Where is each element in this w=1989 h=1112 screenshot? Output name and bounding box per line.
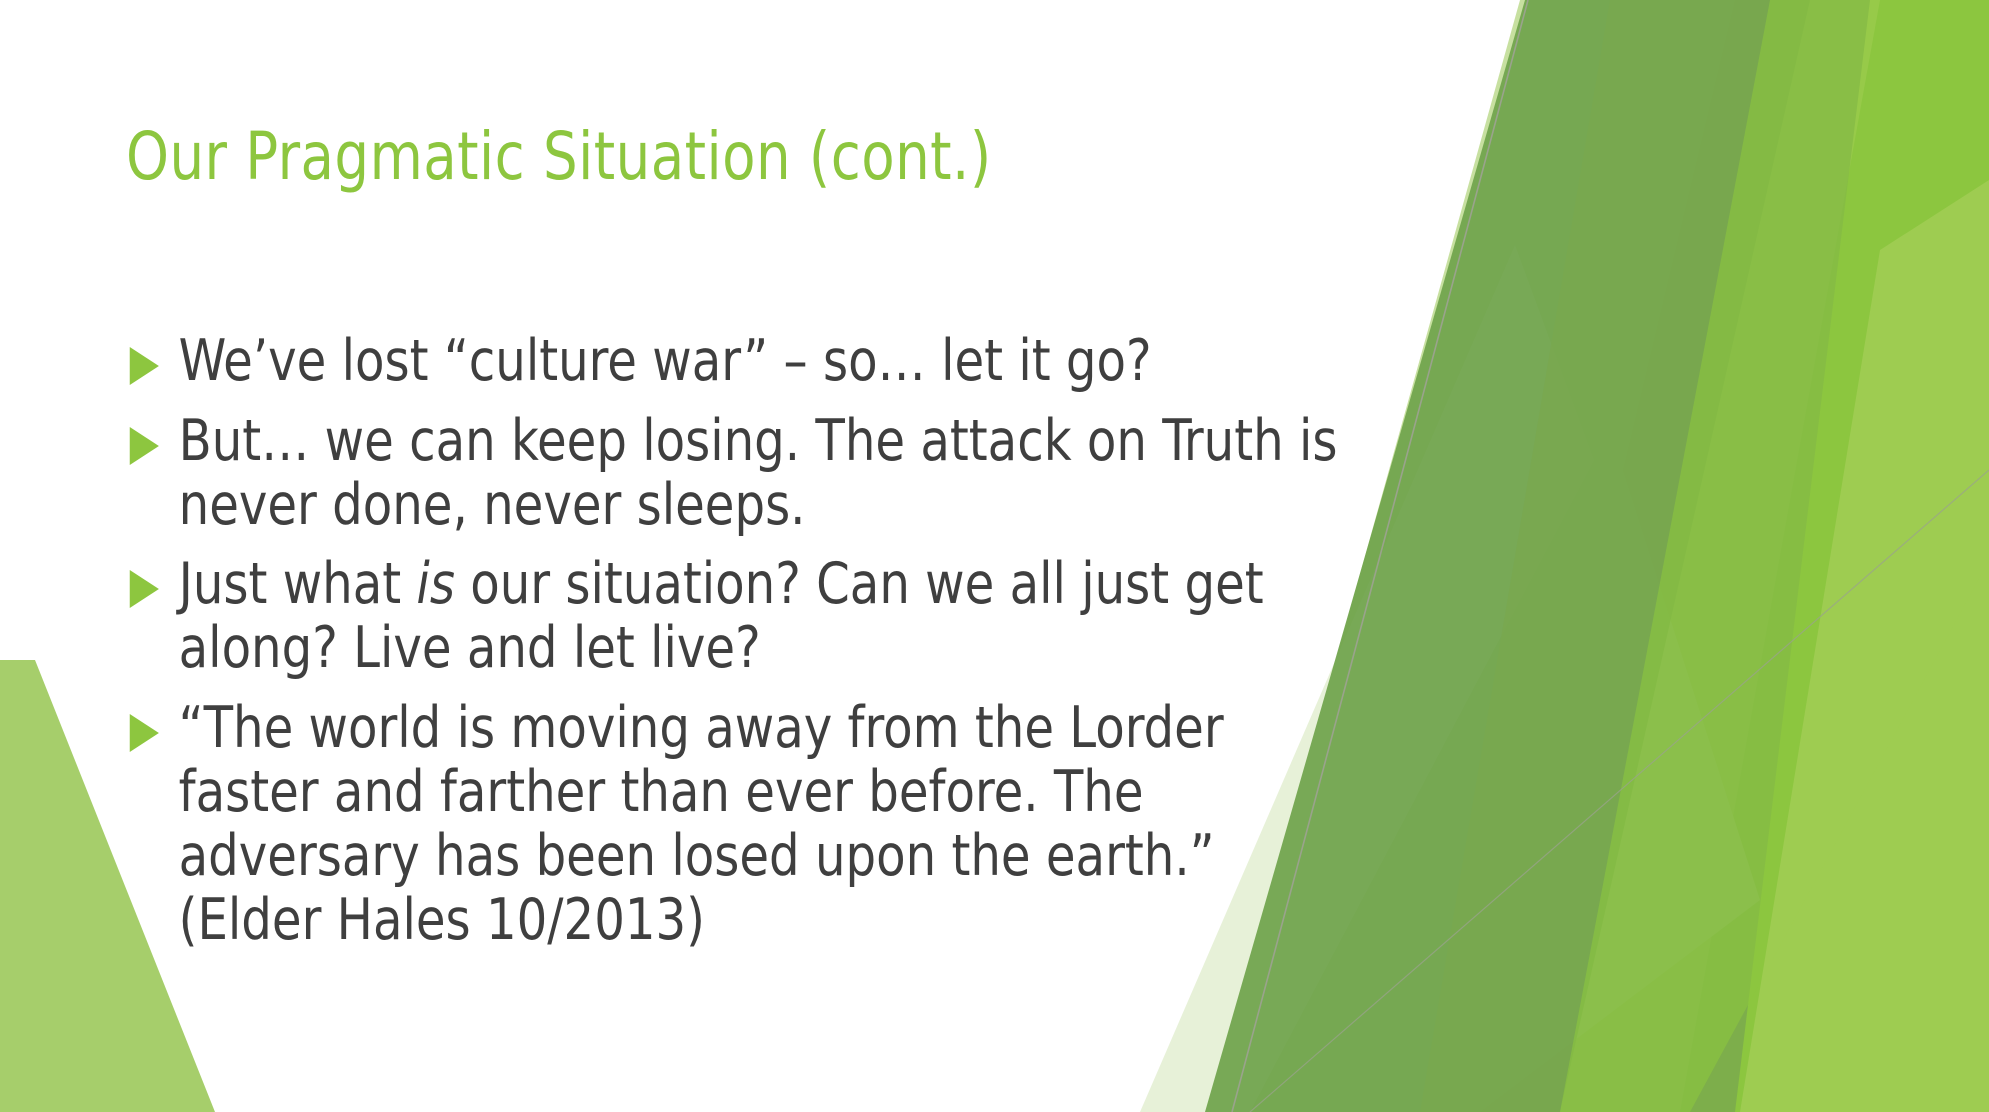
list-item-2: But… we can keep losing. The attack on T… xyxy=(126,410,1367,538)
list-item-4: “The world is moving away from the Lorde… xyxy=(126,697,1367,952)
list-item-3: Just what is our situation? Can we all j… xyxy=(126,553,1367,681)
list-item-3-emphasis: is xyxy=(416,551,455,617)
list-item-1-text: We’ve lost “culture war” – so… let it go… xyxy=(179,330,1367,394)
triangle-right-icon xyxy=(130,570,159,608)
page-title: Our Pragmatic Situation (cont.) xyxy=(126,122,1276,191)
bullet-list: We’ve lost “culture war” – so… let it go… xyxy=(126,330,1446,968)
triangle-right-icon xyxy=(130,427,159,465)
list-item-2-text: But… we can keep losing. The attack on T… xyxy=(179,410,1367,538)
deco-right-vivid-band xyxy=(1680,0,1989,1112)
triangle-right-icon xyxy=(130,714,159,752)
list-item-3-text-before-italic: Just what xyxy=(179,551,417,617)
list-item-1: We’ve lost “culture war” – so… let it go… xyxy=(126,330,1367,394)
triangle-right-icon xyxy=(130,347,159,385)
list-item-3-text: Just what is our situation? Can we all j… xyxy=(179,553,1367,681)
deco-light-overlay xyxy=(1740,180,1989,1112)
slide: Our Pragmatic Situation (cont.) We’ve lo… xyxy=(0,0,1989,1112)
deco-mid-facet xyxy=(1420,0,1870,1112)
deco-right-bright-band xyxy=(1470,0,1989,1112)
list-item-4-text: “The world is moving away from the Lorde… xyxy=(179,697,1367,952)
deco-bright-overlay xyxy=(1560,0,1989,1112)
